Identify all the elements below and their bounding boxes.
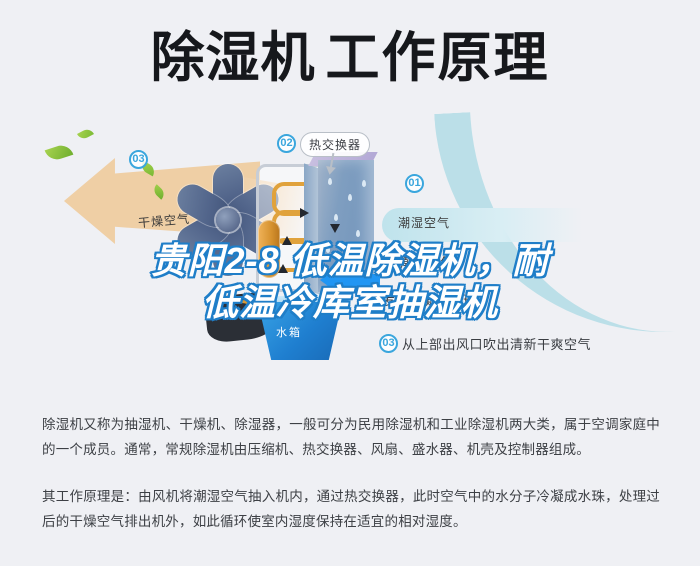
- water-droplet-icon: [334, 214, 338, 221]
- title-part-product: 除湿机: [151, 31, 316, 85]
- water-droplet-icon: [328, 178, 332, 185]
- flow-arrow-icon: [300, 208, 309, 218]
- compressor-icon: [258, 220, 280, 278]
- badge-01-humid-air: 01: [405, 174, 424, 193]
- badge-03-outlet: 03: [379, 334, 398, 353]
- badge-03-dry-air: 03: [129, 150, 148, 169]
- water-droplet-icon: [326, 246, 330, 253]
- flow-arrow-icon: [330, 224, 340, 233]
- water-droplet-icon: [346, 264, 350, 271]
- humid-air-label: 潮湿空气: [398, 214, 450, 231]
- air-intake-arrow-icon: [336, 274, 380, 286]
- leaf-icon: [45, 142, 74, 162]
- flow-arrow-icon: [278, 264, 288, 273]
- body-paragraph-2: 其工作原理是：由风机将潮湿空气抽入机内，通过热交换器，此时空气中的水分子冷凝成水…: [42, 484, 660, 534]
- base-ring-icon: [228, 300, 254, 316]
- water-droplet-icon: [348, 194, 352, 201]
- article-body: 除湿机又称为抽湿机、干燥机、除湿器，一般可分为民用除湿机和工业除湿机两大类，属于…: [42, 412, 660, 534]
- diagram-description-03: 从上部出风口吹出清新干爽空气: [402, 334, 591, 353]
- page-title: 除湿机 工作原理: [0, 22, 700, 94]
- badge-02-heat-exchanger: 02: [277, 134, 296, 153]
- water-droplet-icon: [362, 180, 366, 187]
- water-tank-label: 水箱: [276, 324, 302, 340]
- water-droplet-icon: [356, 230, 360, 237]
- heat-exchanger-callout: 热交换器: [300, 132, 370, 157]
- leaf-icon: [77, 127, 94, 141]
- title-part-principle: 工作原理: [326, 31, 550, 85]
- flow-arrow-icon: [282, 236, 292, 245]
- diagram-description-02: 发器冷凝成水珠: [382, 290, 477, 309]
- body-paragraph-1: 除湿机又称为抽湿机、干燥机、除湿器，一般可分为民用除湿机和工业除湿机两大类，属于…: [42, 412, 660, 462]
- fan-hub: [216, 208, 240, 232]
- working-principle-diagram: 干燥空气 水箱 热交换器 03: [0, 112, 700, 394]
- diagram-description-01: 潮湿空气: [400, 252, 454, 271]
